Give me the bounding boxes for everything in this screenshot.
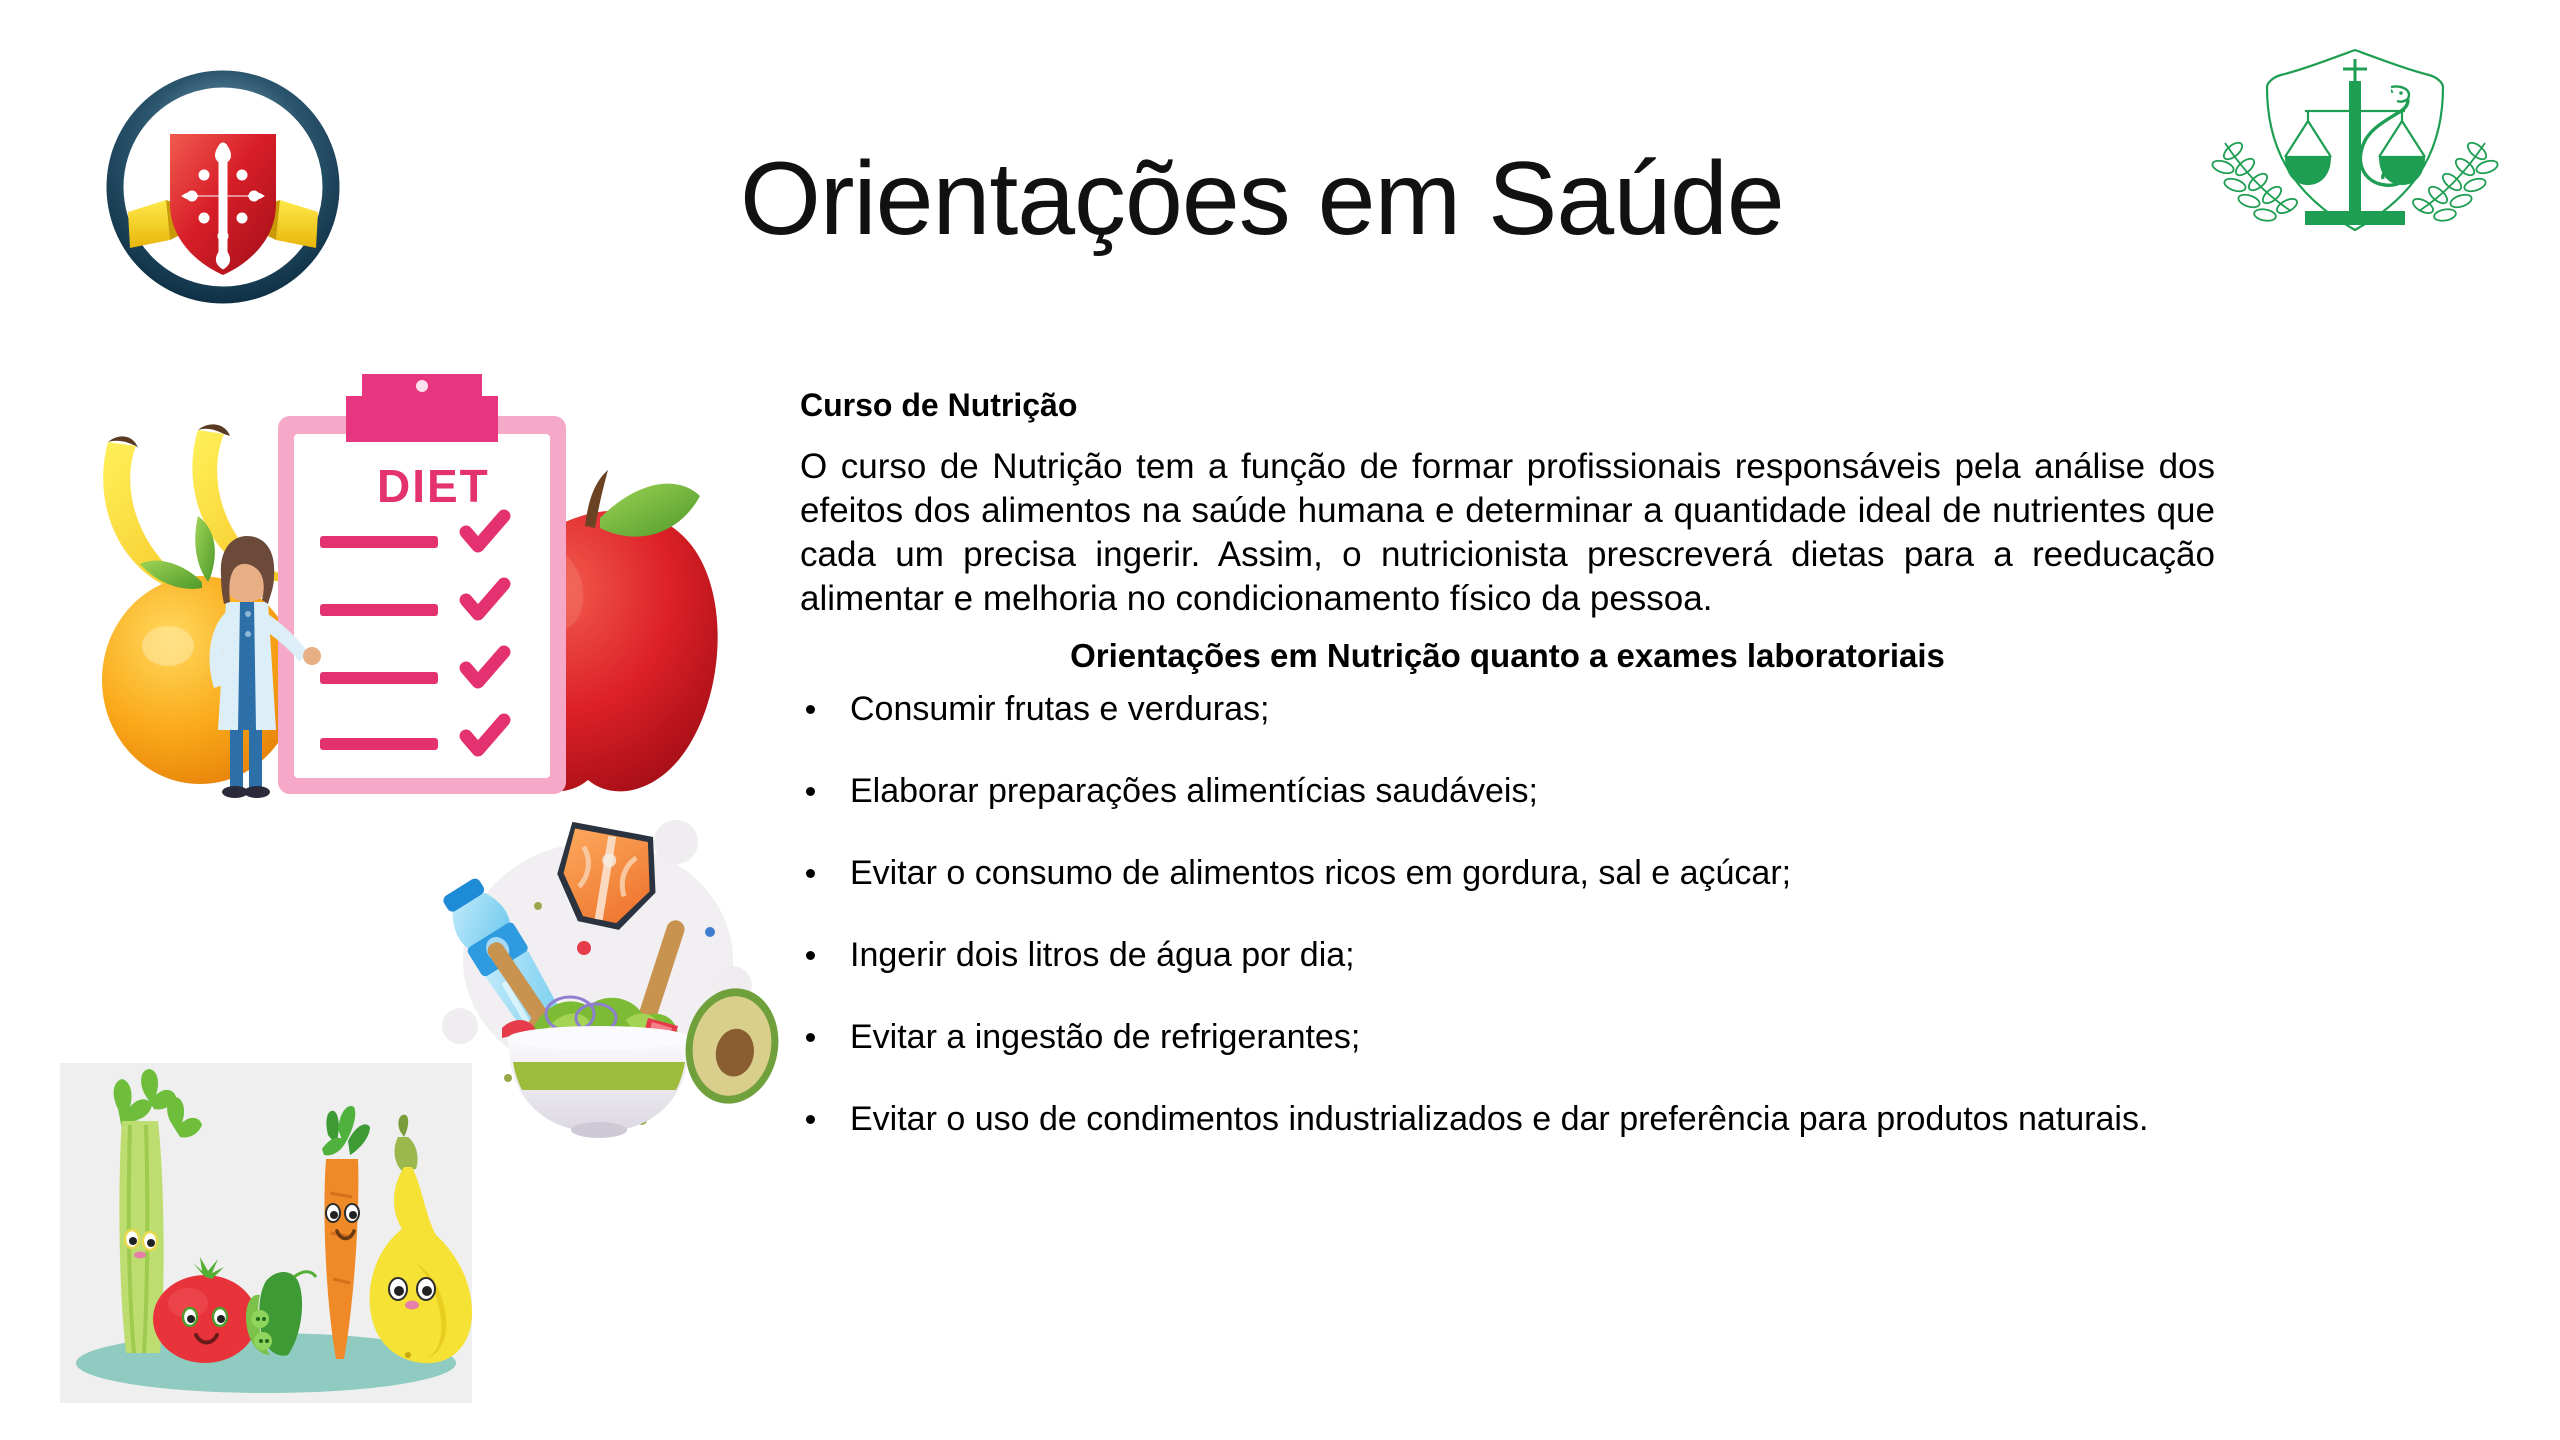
slide-canvas: Orientações em Saúde	[0, 0, 2560, 1440]
list-item-label: Evitar o uso de condimentos industrializ…	[850, 1100, 2148, 1138]
nutrition-council-emblem	[2205, 25, 2505, 240]
diet-clipboard-illustration: DIET	[80, 350, 780, 820]
institution-shield-emblem	[108, 72, 338, 302]
list-item: Evitar a ingestão de refrigerantes;	[800, 1015, 2215, 1059]
text-content-column: Curso de Nutrição O curso de Nutrição te…	[800, 385, 2215, 1141]
bullet-dot-icon	[806, 869, 815, 878]
bullet-dot-icon	[806, 787, 815, 796]
list-item-label: Ingerir dois litros de água por dia;	[850, 936, 1355, 974]
list-item: Evitar o consumo de alimentos ricos em g…	[800, 851, 2215, 895]
bullet-dot-icon	[806, 951, 815, 960]
list-item: Consumir frutas e verduras;	[800, 687, 2215, 731]
list-item: Ingerir dois litros de água por dia;	[800, 933, 2215, 977]
course-description-paragraph: O curso de Nutrição tem a função de form…	[800, 445, 2215, 621]
list-item: Elaborar preparações alimentícias saudáv…	[800, 769, 2215, 813]
list-item-label: Consumir frutas e verduras;	[850, 690, 1270, 728]
vegetable-characters-illustration	[60, 1063, 472, 1403]
course-heading: Curso de Nutrição	[800, 385, 2215, 425]
list-item: Evitar o uso de condimentos industrializ…	[800, 1097, 2215, 1141]
bullet-dot-icon	[806, 1115, 815, 1124]
guidance-list: Consumir frutas e verduras; Elaborar pre…	[800, 687, 2215, 1141]
bullet-dot-icon	[806, 1033, 815, 1042]
svg-text:DIET: DIET	[377, 460, 490, 512]
page-title: Orientações em Saúde	[740, 140, 1840, 258]
list-item-label: Evitar a ingestão de refrigerantes;	[850, 1018, 1360, 1056]
bullet-dot-icon	[806, 705, 815, 714]
lab-guidance-subheading: Orientações em Nutrição quanto a exames …	[800, 635, 2215, 677]
list-item-label: Evitar o consumo de alimentos ricos em g…	[850, 854, 1791, 892]
list-item-label: Elaborar preparações alimentícias saudáv…	[850, 772, 1538, 810]
